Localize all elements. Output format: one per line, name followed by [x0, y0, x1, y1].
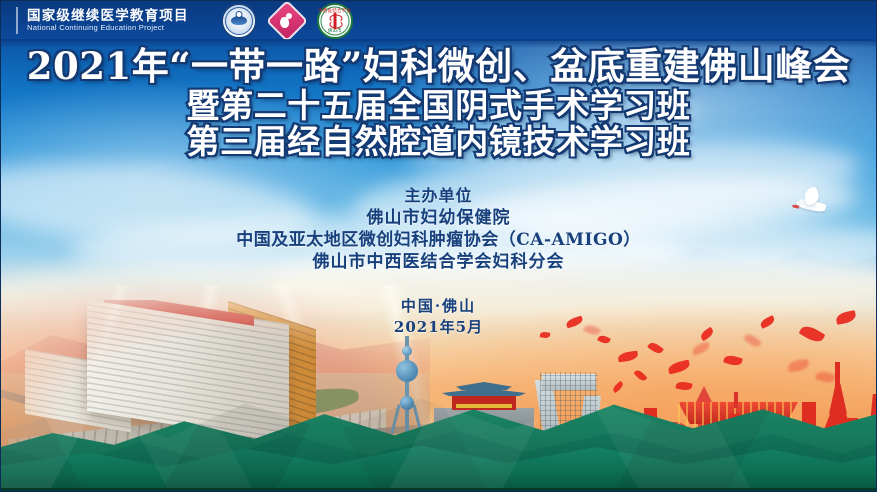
organizers-block: 主办单位 佛山市妇幼保健院 中国及亚太地区微创妇科肿瘤协会（CA-AMIGO） …: [0, 186, 877, 273]
logo-group: 中西医结合学会 佛山市: [221, 3, 353, 39]
conference-poster: 国家级继续医学教育项目 National Continuing Educatio…: [0, 0, 877, 492]
venue-city: 中国·佛山: [0, 296, 877, 317]
maternal-child-diamond-icon: [269, 3, 305, 39]
top-banner-bar: 国家级继续医学教育项目 National Continuing Educatio…: [0, 0, 877, 41]
organizers-heading: 主办单位: [0, 186, 877, 207]
program-name-cn: 国家级继续医学教育项目: [27, 8, 189, 23]
bottom-edge: [0, 488, 877, 492]
organizer-item: 中国及亚太地区微创妇科肿瘤协会（CA-AMIGO）: [0, 229, 877, 251]
program-name-en: National Continuing Education Project: [27, 24, 189, 33]
title-line-2: 暨第二十五届全国阴式手术学习班: [0, 89, 877, 123]
organizer-item: 佛山市中西医结合学会妇科分会: [0, 251, 877, 273]
program-badge: 国家级继续医学教育项目 National Continuing Educatio…: [16, 7, 199, 34]
title-line-3: 第三届经自然腔道内镜技术学习班: [0, 125, 877, 159]
venue-block: 中国·佛山 2021年5月: [0, 296, 877, 339]
medical-association-seal-icon: 中西医结合学会 佛山市: [317, 3, 353, 39]
ca-amigo-seal-icon: [221, 3, 257, 39]
title-line-1: 2021年“一带一路”妇科微创、盆底重建佛山峰会: [0, 48, 877, 86]
logo3-bottom-text: 佛山市: [328, 28, 342, 34]
oriental-pearl-tower-icon: [390, 336, 424, 434]
venue-date: 2021年5月: [0, 317, 877, 338]
organizer-item: 佛山市妇幼保健院: [0, 207, 877, 229]
poster-title-block: 2021年“一带一路”妇科微创、盆底重建佛山峰会 暨第二十五届全国阴式手术学习班…: [0, 48, 877, 159]
